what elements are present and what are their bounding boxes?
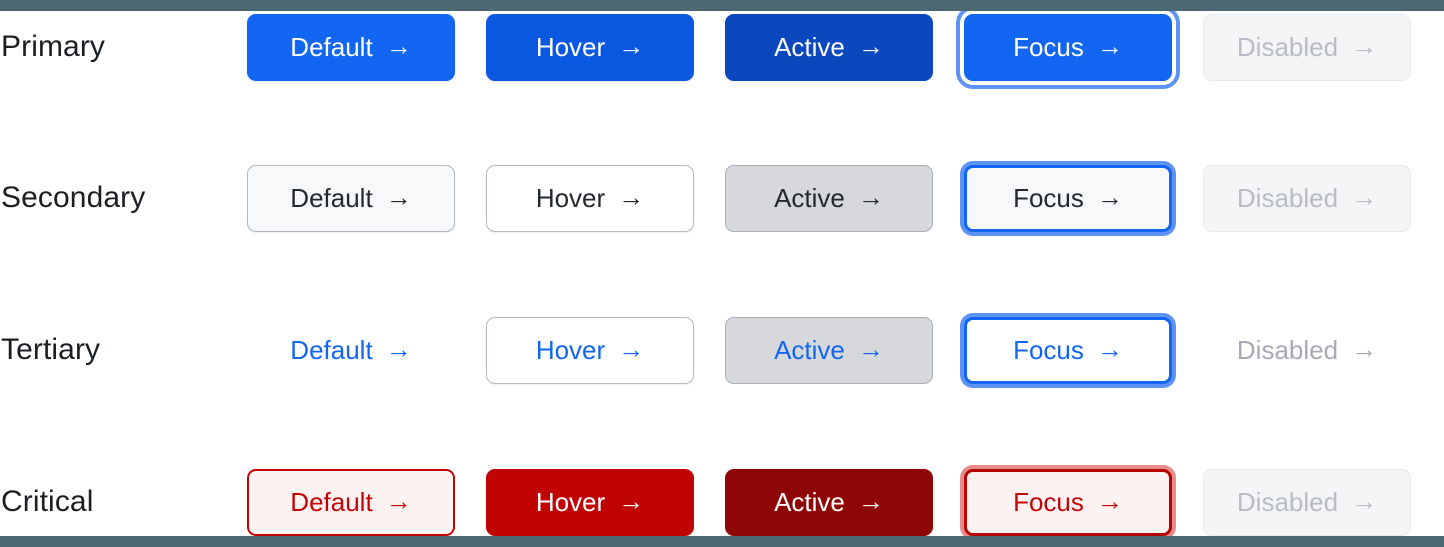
cell-secondary-default: Default → — [247, 155, 486, 241]
button-label: Hover — [536, 185, 605, 211]
button-label: Focus — [1013, 34, 1084, 60]
arrow-right-icon: → — [386, 488, 412, 514]
button-label: Active — [774, 185, 845, 211]
row-label-secondary: Secondary — [0, 183, 247, 213]
button-tertiary-default[interactable]: Default → — [247, 317, 455, 384]
button-tertiary-disabled: Disabled → — [1203, 317, 1411, 384]
bottom-edge-bar — [0, 536, 1444, 547]
cell-primary-default: Default → — [247, 4, 486, 90]
cell-critical-disabled: Disabled → — [1203, 459, 1442, 545]
button-label: Focus — [1013, 489, 1084, 515]
arrow-right-icon: → — [386, 336, 412, 362]
button-tertiary-hover[interactable]: Hover → — [486, 317, 694, 384]
row-label-critical: Critical — [0, 487, 247, 517]
cell-tertiary-active: Active → — [725, 307, 964, 393]
button-label: Default — [290, 337, 372, 363]
arrow-right-icon: → — [386, 33, 412, 59]
cell-critical-hover: Hover → — [486, 459, 725, 545]
cell-primary-hover: Hover → — [486, 4, 725, 90]
button-label: Hover — [536, 489, 605, 515]
cell-tertiary-default: Default → — [247, 307, 486, 393]
button-secondary-active[interactable]: Active → — [725, 165, 933, 232]
button-label: Focus — [1013, 185, 1084, 211]
button-label: Disabled — [1237, 337, 1338, 363]
arrow-right-icon: → — [1351, 33, 1377, 59]
row-label-primary: Primary — [0, 32, 247, 62]
button-label: Disabled — [1237, 185, 1338, 211]
button-label: Disabled — [1237, 34, 1338, 60]
arrow-right-icon: → — [858, 184, 884, 210]
arrow-right-icon: → — [858, 33, 884, 59]
cell-secondary-active: Active → — [725, 155, 964, 241]
button-primary-hover[interactable]: Hover → — [486, 14, 694, 81]
arrow-right-icon: → — [1351, 184, 1377, 210]
button-critical-focus[interactable]: Focus → — [964, 469, 1172, 536]
cell-tertiary-focus: Focus → — [964, 307, 1203, 393]
row-primary: Primary Default → Hover → Active → Focus… — [0, 4, 1444, 90]
button-critical-disabled: Disabled → — [1203, 469, 1411, 536]
button-states-matrix: Primary Default → Hover → Active → Focus… — [0, 0, 1444, 547]
button-primary-focus[interactable]: Focus → — [964, 14, 1172, 81]
button-label: Active — [774, 337, 845, 363]
arrow-right-icon: → — [1097, 33, 1123, 59]
cell-secondary-disabled: Disabled → — [1203, 155, 1442, 241]
button-secondary-default[interactable]: Default → — [247, 165, 455, 232]
button-critical-default[interactable]: Default → — [247, 469, 455, 536]
button-primary-active[interactable]: Active → — [725, 14, 933, 81]
button-secondary-focus[interactable]: Focus → — [964, 165, 1172, 232]
cell-tertiary-hover: Hover → — [486, 307, 725, 393]
button-label: Active — [774, 489, 845, 515]
button-label: Default — [290, 34, 372, 60]
button-tertiary-active[interactable]: Active → — [725, 317, 933, 384]
row-tertiary: Tertiary Default → Hover → Active → Focu… — [0, 307, 1444, 393]
button-label: Hover — [536, 34, 605, 60]
arrow-right-icon: → — [1097, 184, 1123, 210]
button-primary-disabled: Disabled → — [1203, 14, 1411, 81]
arrow-right-icon: → — [858, 488, 884, 514]
button-secondary-disabled: Disabled → — [1203, 165, 1411, 232]
cell-secondary-hover: Hover → — [486, 155, 725, 241]
arrow-right-icon: → — [1097, 336, 1123, 362]
button-label: Default — [290, 489, 372, 515]
arrow-right-icon: → — [618, 488, 644, 514]
button-critical-active[interactable]: Active → — [725, 469, 933, 536]
arrow-right-icon: → — [386, 184, 412, 210]
button-label: Hover — [536, 337, 605, 363]
button-label: Default — [290, 185, 372, 211]
cell-secondary-focus: Focus → — [964, 155, 1203, 241]
arrow-right-icon: → — [1097, 488, 1123, 514]
cell-tertiary-disabled: Disabled → — [1203, 307, 1442, 393]
row-label-tertiary: Tertiary — [0, 335, 247, 365]
top-edge-bar — [0, 0, 1444, 11]
cell-critical-default: Default → — [247, 459, 486, 545]
button-critical-hover[interactable]: Hover → — [486, 469, 694, 536]
row-critical: Critical Default → Hover → Active → Focu… — [0, 459, 1444, 545]
arrow-right-icon: → — [618, 33, 644, 59]
button-tertiary-focus[interactable]: Focus → — [964, 317, 1172, 384]
button-label: Focus — [1013, 337, 1084, 363]
arrow-right-icon: → — [618, 184, 644, 210]
cell-critical-focus: Focus → — [964, 459, 1203, 545]
arrow-right-icon: → — [1351, 488, 1377, 514]
button-label: Active — [774, 34, 845, 60]
arrow-right-icon: → — [618, 336, 644, 362]
cell-primary-disabled: Disabled → — [1203, 4, 1442, 90]
button-secondary-hover[interactable]: Hover → — [486, 165, 694, 232]
button-label: Disabled — [1237, 489, 1338, 515]
arrow-right-icon: → — [858, 336, 884, 362]
cell-critical-active: Active → — [725, 459, 964, 545]
cell-primary-active: Active → — [725, 4, 964, 90]
cell-primary-focus: Focus → — [964, 4, 1203, 90]
button-primary-default[interactable]: Default → — [247, 14, 455, 81]
arrow-right-icon: → — [1351, 336, 1377, 362]
row-secondary: Secondary Default → Hover → Active → Foc… — [0, 155, 1444, 241]
